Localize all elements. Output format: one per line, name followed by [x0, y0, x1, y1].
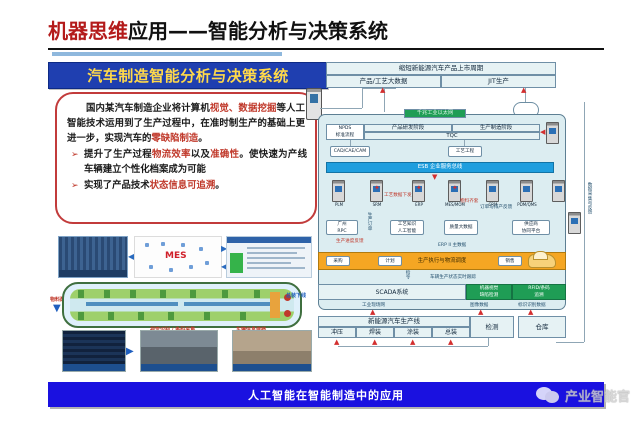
app-box-3: 供应商 协同平台: [512, 220, 550, 235]
system-label-5: PDM/QMS: [515, 202, 539, 207]
callout-bullet-2: ➢实现了产品技术状态信息可追溯。: [71, 179, 307, 194]
esb-bus: ESB 企业服务总线: [326, 162, 554, 173]
callout-text-e: 。: [198, 133, 207, 144]
logistics-board-photo: [58, 236, 128, 278]
orange-item-0: 采购: [326, 256, 350, 266]
right-side-label: 数据采集与反馈: [586, 182, 592, 232]
title-highlight: 机器思维: [48, 19, 128, 43]
architecture-diagram: 缩短新能源汽车产品上市周期 产品/工艺大数据 JIT生产 ▲ ▲ 云平台 千兆工…: [312, 62, 634, 372]
network-label: 千兆工业以太网: [404, 109, 466, 118]
photo-warehouse: [232, 330, 312, 372]
section-title-label: 汽车制造智能分析与决策系统: [87, 65, 289, 86]
vehicle-icon: [528, 254, 556, 268]
callout-process: 工艺工程: [448, 146, 482, 157]
npds-cell: NPDS 标准流程: [326, 124, 364, 140]
server-icon-right: [546, 122, 559, 144]
arrow-down-icon: ▼: [53, 303, 61, 314]
line-cell-2: 涂装: [394, 327, 432, 338]
line-cell-0: 冲压: [318, 327, 356, 338]
arch-main-panel: [318, 114, 566, 310]
arrow-bullet-icon: ➢: [71, 179, 79, 194]
line-cell-1: 焊装: [356, 327, 394, 338]
arrow-bullet-icon: ➢: [71, 148, 79, 163]
footer-label: 人工智能在智能制造中的应用: [248, 387, 404, 403]
line-row-title: 新能源汽车生产线: [318, 316, 470, 327]
tqc-cell: TQC: [364, 132, 540, 140]
mes-center-diagram: MES: [134, 236, 222, 278]
mes-label: MES: [165, 251, 187, 261]
stage-cell-0: 产品研发阶段: [364, 124, 452, 132]
arch-top-cell-1: JIT生产: [441, 75, 556, 88]
watermark: 产业智能官: [536, 382, 630, 408]
system-icon-pdm: PDM/QMS: [520, 180, 533, 202]
photo-agv: [140, 330, 218, 372]
mes-overview-block: ◀ MES ▶ ◀: [58, 236, 310, 278]
line-right-note: 总装下线: [286, 292, 306, 299]
callout-box: 国内某汽车制造企业将计算机视觉、数据挖掘等人工智能技术运用到了生产过程中，在准时…: [55, 92, 317, 224]
callout-text-d: 零缺陷制造: [151, 133, 198, 144]
scada-box: SCADA系统: [318, 284, 466, 300]
slide-root: 机器思维应用——智能分析与决策系统 汽车制造智能分析与决策系统 国内某汽车制造企…: [0, 0, 640, 429]
watermark-text: 产业智能官: [565, 386, 630, 405]
callout-text-b: 视觉、数据挖掘: [210, 103, 277, 114]
system-label-0: PLM: [327, 202, 351, 207]
section-title-bar: 汽车制造智能分析与决策系统: [48, 62, 328, 89]
stage-cell-1: 生产制造阶段: [452, 124, 540, 132]
system-icon-plm: PLM: [332, 180, 345, 202]
system-label-2: ERP: [407, 202, 431, 207]
orange-item-1: 计划: [378, 256, 402, 266]
system-label-1: SRM: [365, 202, 389, 207]
wechat-icon: [536, 385, 562, 405]
callout-bullet-1: ➢提升了生产过程物流效率以及准确性。使快速为产线车辆建立个性化档案成为可能: [71, 148, 307, 177]
orange-item-3: 销售: [498, 256, 522, 266]
app-box-0: 广州 RPC: [326, 220, 358, 235]
callout-paragraph: 国内某汽车制造企业将计算机视觉、数据挖掘等人工智能技术运用到了生产过程中，在准时…: [57, 94, 315, 146]
system-icon-extra: [552, 180, 565, 202]
quality-traceability-panel: [226, 236, 312, 278]
callout-bullet-list: ➢提升了生产过程物流效率以及准确性。使快速为产线车辆建立个性化档案成为可能 ➢实…: [57, 148, 315, 194]
title-underline: [48, 48, 604, 50]
line-cell-3: 总装: [432, 327, 470, 338]
line-extra-1: 仓库: [518, 316, 566, 338]
arrow-right-icon-2: ▶: [126, 346, 134, 357]
arch-top-banner: 缩短新能源汽车产品上市周期: [326, 62, 556, 75]
photo-strip: ▶: [62, 330, 310, 370]
title-rest: 应用——智能分析与决策系统: [128, 19, 388, 43]
photo-logistics-board: [62, 330, 126, 372]
title-underline-accent: [52, 52, 282, 56]
system-icon-crm: CRM: [486, 180, 499, 202]
page-title: 机器思维应用——智能分析与决策系统: [48, 18, 608, 44]
app-box-1: 工艺知识 人工智能: [390, 220, 424, 235]
rfid-box: RFID/条码 追溯: [512, 284, 566, 300]
footer-banner: 人工智能在智能制造中的应用: [48, 382, 604, 407]
production-line-layout: [62, 282, 302, 328]
callout-text-a: 国内某汽车制造企业将计算机: [86, 103, 210, 114]
vision-box: 机器视觉 缺陷检测: [466, 284, 512, 300]
callout-cad: CAD/CAE/CAM: [330, 146, 370, 157]
app-box-2: 质量大数据: [444, 220, 478, 235]
mobile-terminal-icon: [568, 212, 581, 234]
line-extra-0: 检测: [470, 316, 514, 338]
